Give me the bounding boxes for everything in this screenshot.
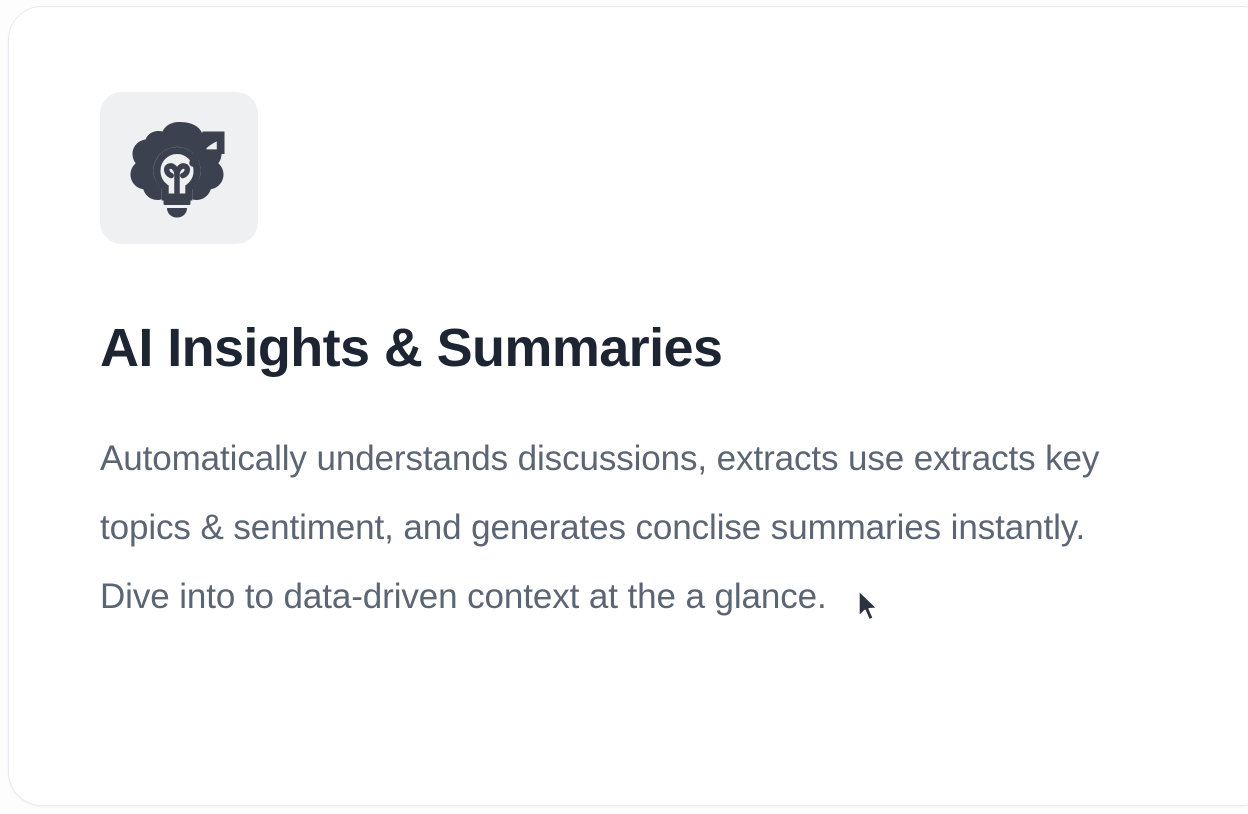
ai-insights-card: AI Insights & Summaries Automatically un… bbox=[8, 6, 1248, 806]
card-content: AI Insights & Summaries Automatically un… bbox=[100, 92, 1215, 631]
card-title: AI Insights & Summaries bbox=[100, 316, 1215, 380]
icon-tile bbox=[100, 92, 258, 244]
card-description: Automatically understands discussions, e… bbox=[100, 424, 1155, 631]
brain-lightbulb-arrow-icon bbox=[127, 118, 231, 218]
feature-card-page: AI Insights & Summaries Automatically un… bbox=[0, 0, 1248, 814]
